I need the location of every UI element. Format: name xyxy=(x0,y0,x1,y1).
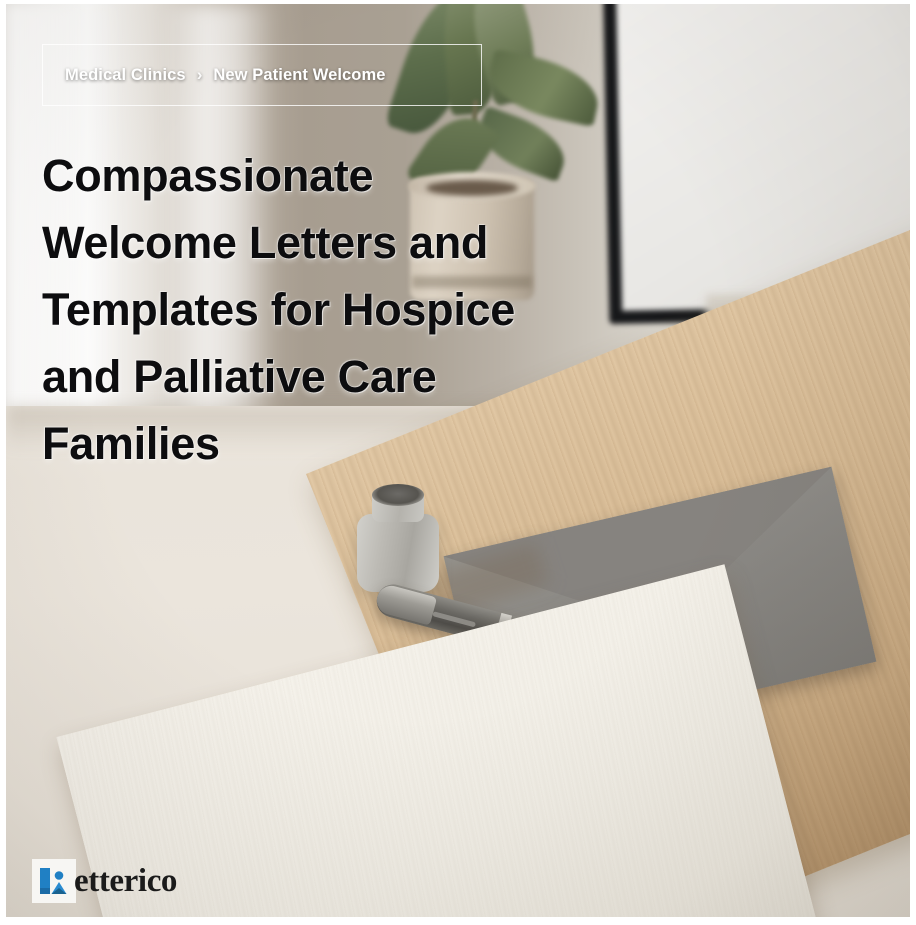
chevron-right-icon: › xyxy=(197,65,203,85)
brand-logo[interactable]: etterico xyxy=(32,859,177,903)
hero-banner-page: Medical Clinics › New Patient Welcome Co… xyxy=(0,0,916,925)
breadcrumb-item-new-patient-welcome[interactable]: New Patient Welcome xyxy=(213,66,385,85)
breadcrumb: Medical Clinics › New Patient Welcome xyxy=(42,44,482,106)
hero-overlay: Medical Clinics › New Patient Welcome Co… xyxy=(0,0,916,925)
breadcrumb-item-medical-clinics[interactable]: Medical Clinics xyxy=(65,66,186,85)
letterico-logo-icon xyxy=(32,859,76,903)
brand-name: etterico xyxy=(74,865,177,898)
page-title: Compassionate Welcome Letters and Templa… xyxy=(42,142,542,477)
